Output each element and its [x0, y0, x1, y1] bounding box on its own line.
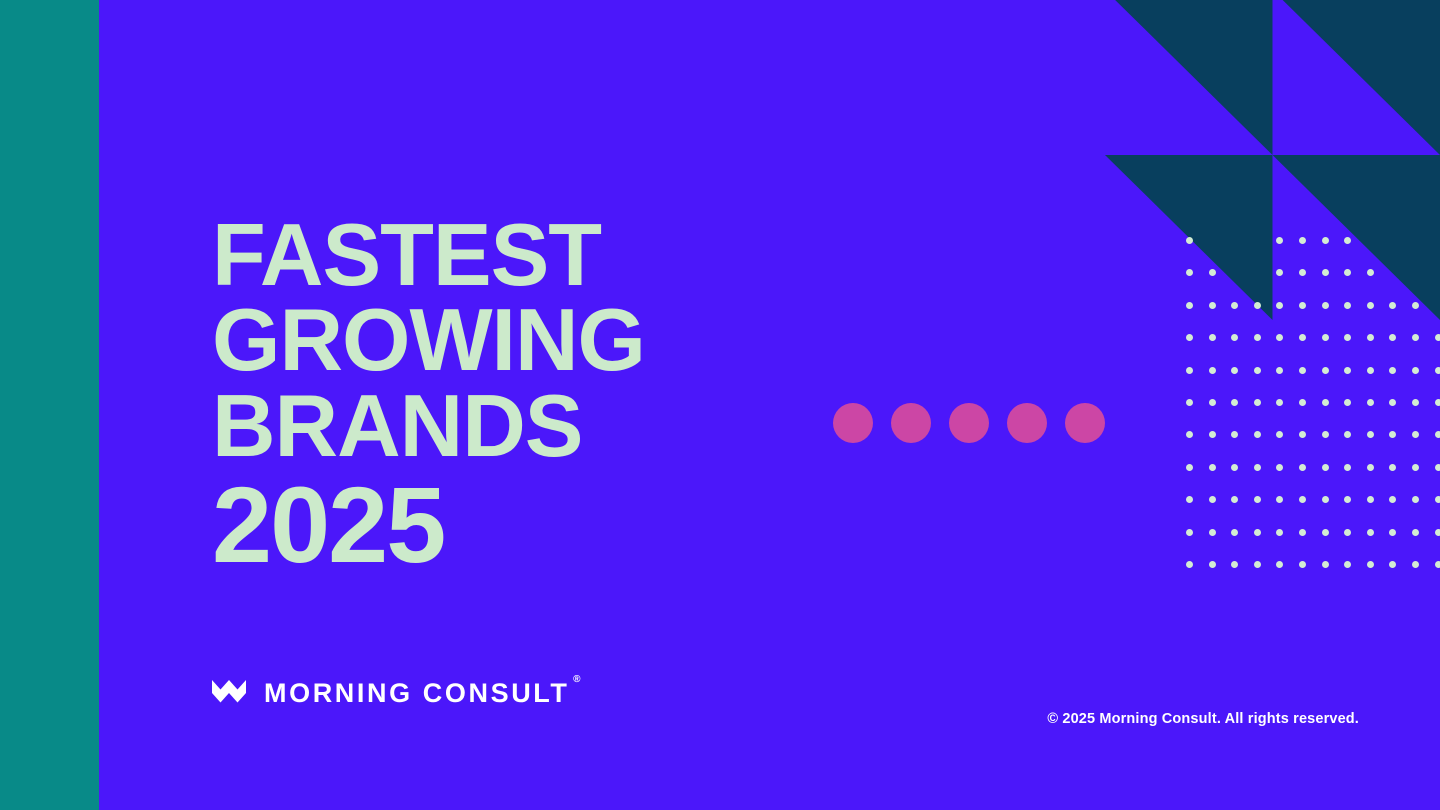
grid-dot — [1209, 529, 1216, 536]
grid-dot — [1209, 334, 1216, 341]
grid-dot — [1186, 496, 1193, 503]
grid-dot — [1367, 561, 1374, 568]
copyright-notice: © 2025 Morning Consult. All rights reser… — [1047, 711, 1359, 727]
grid-dot — [1412, 431, 1419, 438]
grid-dot — [1299, 237, 1306, 244]
grid-dot — [1412, 367, 1419, 374]
grid-dot — [1412, 302, 1419, 309]
grid-dot — [1435, 431, 1440, 438]
grid-dot — [1412, 334, 1419, 341]
grid-dot — [1299, 367, 1306, 374]
grid-dot — [1254, 561, 1261, 568]
grid-dot — [1231, 431, 1238, 438]
grid-dot — [1367, 496, 1374, 503]
grid-dot — [1276, 431, 1283, 438]
grid-dot — [1186, 431, 1193, 438]
grid-dot — [1254, 431, 1261, 438]
grid-dot — [1367, 529, 1374, 536]
grid-dot — [1389, 561, 1396, 568]
grid-dot — [1231, 496, 1238, 503]
grid-dot — [1389, 529, 1396, 536]
grid-dot — [1322, 529, 1329, 536]
grid-dot — [1435, 367, 1440, 374]
dot-grid-row — [1186, 269, 1440, 301]
grid-dot — [1186, 367, 1193, 374]
pink-dot — [1065, 403, 1105, 443]
grid-dot — [1254, 334, 1261, 341]
pink-dot — [891, 403, 931, 443]
grid-dot — [1231, 529, 1238, 536]
grid-dot — [1209, 431, 1216, 438]
grid-dot — [1367, 334, 1374, 341]
grid-dot — [1276, 269, 1283, 276]
grid-dot — [1367, 399, 1374, 406]
grid-dot — [1322, 367, 1329, 374]
pink-dot — [1007, 403, 1047, 443]
grid-dot — [1299, 302, 1306, 309]
grid-dot — [1344, 367, 1351, 374]
chevron-m-icon — [212, 676, 246, 710]
grid-dot — [1186, 399, 1193, 406]
grid-dot — [1209, 367, 1216, 374]
pinwheel-quadrant-top-left — [1105, 0, 1273, 155]
grid-dot — [1389, 367, 1396, 374]
dot-grid-row — [1186, 464, 1440, 496]
grid-dot — [1186, 561, 1193, 568]
grid-dot — [1435, 496, 1440, 503]
grid-dot — [1231, 367, 1238, 374]
grid-dot — [1254, 464, 1261, 471]
grid-dot — [1186, 237, 1193, 244]
triangle-shape — [1273, 0, 1440, 155]
grid-dot — [1322, 496, 1329, 503]
logo-wordmark: MORNING CONSULT ® — [264, 678, 569, 709]
grid-dot — [1412, 561, 1419, 568]
grid-dot — [1344, 334, 1351, 341]
grid-dot — [1322, 302, 1329, 309]
grid-dot — [1231, 334, 1238, 341]
dot-grid-row — [1186, 496, 1440, 528]
grid-dot — [1231, 302, 1238, 309]
grid-dot — [1435, 464, 1440, 471]
grid-dot — [1209, 302, 1216, 309]
grid-dot — [1186, 302, 1193, 309]
registered-trademark-icon: ® — [573, 674, 580, 685]
grid-dot — [1231, 399, 1238, 406]
grid-dot — [1186, 334, 1193, 341]
morning-consult-logo: MORNING CONSULT ® — [212, 676, 569, 710]
grid-dot — [1322, 464, 1329, 471]
grid-dot — [1322, 561, 1329, 568]
pink-dot — [833, 403, 873, 443]
grid-dot — [1344, 399, 1351, 406]
grid-dot — [1389, 399, 1396, 406]
grid-dot — [1254, 529, 1261, 536]
grid-dot — [1209, 561, 1216, 568]
grid-dot — [1299, 334, 1306, 341]
grid-dot — [1367, 367, 1374, 374]
grid-dot — [1186, 529, 1193, 536]
grid-dot — [1435, 399, 1440, 406]
grid-dot — [1276, 464, 1283, 471]
grid-dot — [1412, 496, 1419, 503]
triangle-shape — [1105, 0, 1273, 155]
dot-grid-row — [1186, 561, 1440, 593]
grid-dot — [1322, 399, 1329, 406]
grid-dot — [1322, 237, 1329, 244]
dot-grid-row — [1186, 334, 1440, 366]
grid-dot — [1254, 302, 1261, 309]
dot-grid-row — [1186, 237, 1440, 269]
grid-dot — [1299, 399, 1306, 406]
grid-dot — [1299, 269, 1306, 276]
grid-dot — [1276, 237, 1283, 244]
grid-dot — [1367, 431, 1374, 438]
page-title: FASTEST GROWING BRANDS 2025 — [212, 212, 912, 580]
grid-dot — [1254, 367, 1261, 374]
grid-dot — [1322, 431, 1329, 438]
grid-dot — [1435, 561, 1440, 568]
grid-dot — [1299, 529, 1306, 536]
grid-dot — [1412, 529, 1419, 536]
dot-grid-row — [1186, 367, 1440, 399]
grid-dot — [1412, 399, 1419, 406]
headline-line-3: BRANDS — [212, 383, 912, 468]
grid-dot — [1367, 269, 1374, 276]
grid-dot — [1367, 302, 1374, 309]
headline-line-1: FASTEST — [212, 212, 912, 297]
grid-dot — [1276, 399, 1283, 406]
grid-dot — [1344, 529, 1351, 536]
grid-dot — [1344, 431, 1351, 438]
grid-dot — [1276, 334, 1283, 341]
pink-dot-row — [833, 403, 1105, 443]
grid-dot — [1367, 464, 1374, 471]
grid-dot — [1344, 464, 1351, 471]
grid-dot — [1209, 464, 1216, 471]
grid-dot — [1254, 496, 1261, 503]
grid-dot — [1276, 367, 1283, 374]
grid-dot — [1231, 464, 1238, 471]
grid-dot — [1389, 464, 1396, 471]
left-teal-accent-bar — [0, 0, 99, 810]
dot-grid-row — [1186, 399, 1440, 431]
grid-dot — [1389, 334, 1396, 341]
grid-dot — [1209, 496, 1216, 503]
dot-grid-row — [1186, 529, 1440, 561]
grid-dot — [1322, 269, 1329, 276]
grid-dot — [1231, 561, 1238, 568]
grid-dot — [1276, 302, 1283, 309]
headline-line-2: GROWING — [212, 297, 912, 382]
grid-dot — [1412, 464, 1419, 471]
grid-dot — [1435, 334, 1440, 341]
grid-dot — [1186, 464, 1193, 471]
grid-dot — [1389, 431, 1396, 438]
grid-dot — [1344, 269, 1351, 276]
grid-dot — [1276, 496, 1283, 503]
fastest-growing-brands-2025-slide: FASTEST GROWING BRANDS 2025 MORNING CONS… — [0, 0, 1440, 810]
grid-dot — [1276, 529, 1283, 536]
pink-dot — [949, 403, 989, 443]
grid-dot — [1186, 269, 1193, 276]
grid-dot — [1344, 237, 1351, 244]
headline-year: 2025 — [212, 470, 912, 580]
grid-dot — [1254, 399, 1261, 406]
grid-dot — [1299, 464, 1306, 471]
grid-dot — [1344, 561, 1351, 568]
grid-dot — [1389, 302, 1396, 309]
grid-dot — [1389, 496, 1396, 503]
grid-dot — [1344, 302, 1351, 309]
grid-dot — [1209, 399, 1216, 406]
grid-dot — [1435, 529, 1440, 536]
grid-dot — [1276, 561, 1283, 568]
grid-dot — [1209, 269, 1216, 276]
dot-grid-row — [1186, 431, 1440, 463]
dot-grid-row — [1186, 302, 1440, 334]
grid-dot — [1344, 496, 1351, 503]
logo-wordmark-text: MORNING CONSULT — [264, 678, 569, 708]
grid-dot — [1299, 431, 1306, 438]
grid-dot — [1299, 496, 1306, 503]
grid-dot — [1299, 561, 1306, 568]
pinwheel-quadrant-top-right — [1273, 0, 1440, 155]
grid-dot — [1322, 334, 1329, 341]
dot-grid-pattern — [1186, 237, 1440, 577]
